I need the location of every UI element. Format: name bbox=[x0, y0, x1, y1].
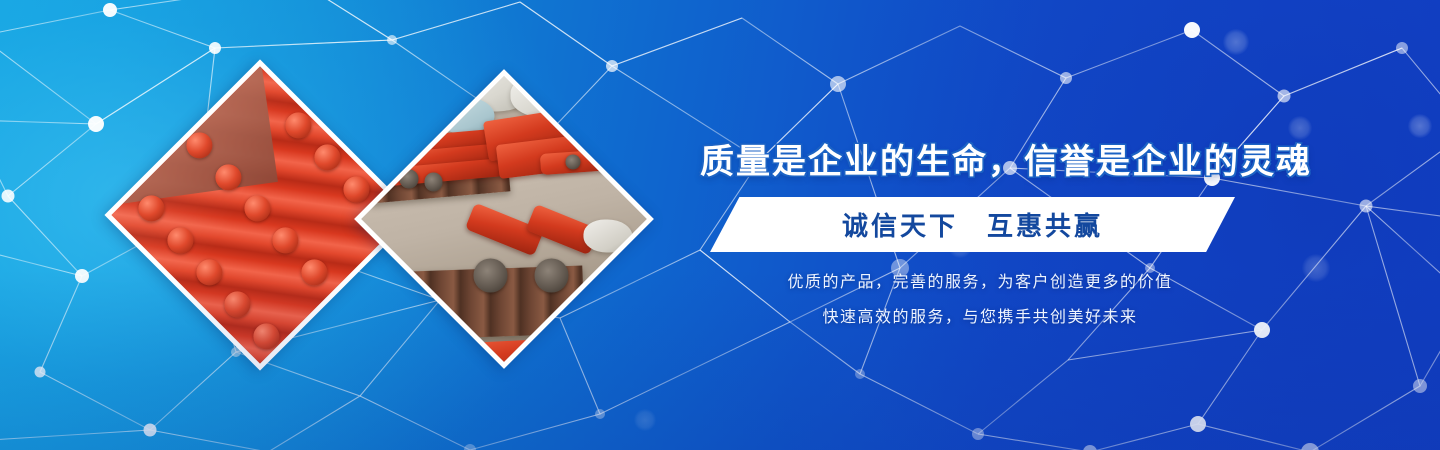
slogan-ribbon-text: 诚信天下 互惠共赢 bbox=[842, 206, 1103, 243]
hero-banner: 质量是企业的生命，信誉是企业的灵魂 诚信天下 互惠共赢 优质的产品，完善的服务，… bbox=[0, 0, 1440, 450]
banner-subtitle-line-2: 快速高效的服务，与您携手共创美好未来 bbox=[700, 303, 1260, 327]
banner-subtitle-line-1: 优质的产品，完善的服务，为客户创造更多的价值 bbox=[700, 268, 1260, 292]
banner-copy: 质量是企业的生命，信誉是企业的灵魂 诚信天下 互惠共赢 优质的产品，完善的服务，… bbox=[700, 0, 1320, 450]
slogan-ribbon: 诚信天下 互惠共赢 bbox=[710, 197, 1235, 252]
banner-headline: 质量是企业的生命，信誉是企业的灵魂 bbox=[700, 134, 1260, 183]
